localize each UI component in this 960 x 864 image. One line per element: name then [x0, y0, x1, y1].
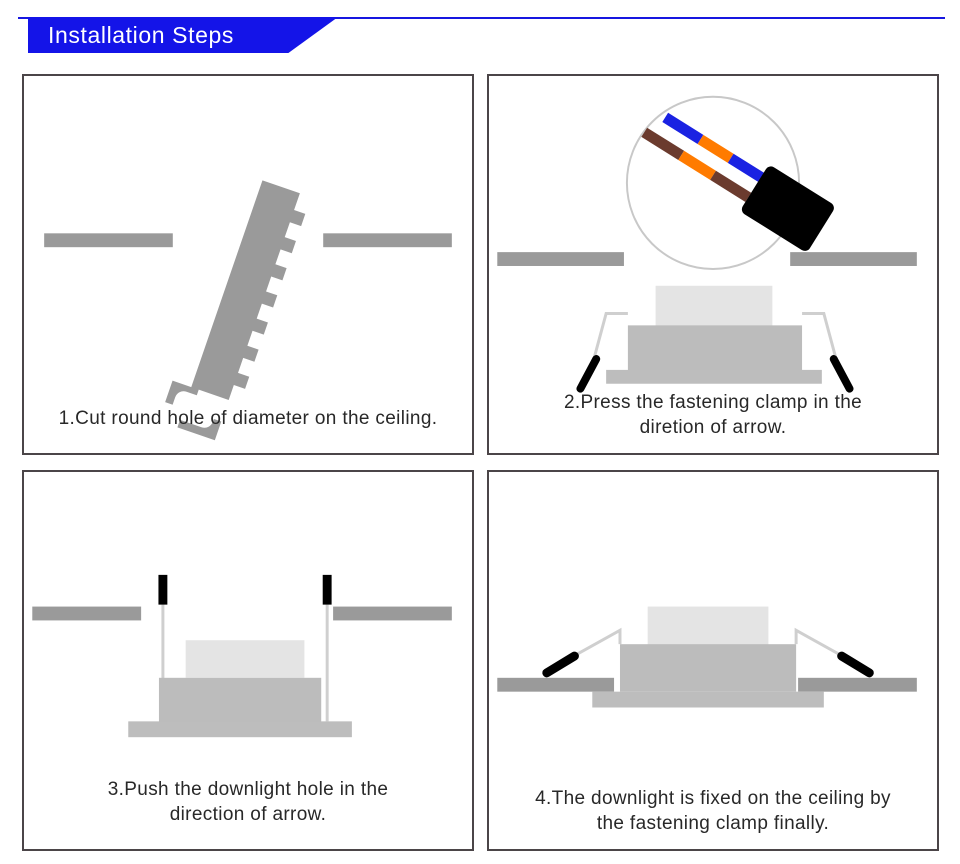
- ceiling-bar-right: [323, 233, 452, 247]
- ceiling-bar-right: [333, 607, 452, 621]
- step-panel-3: 3.Push the downlight hole in the directi…: [22, 470, 474, 851]
- fixture-flange: [128, 721, 352, 737]
- fixture-flange: [606, 370, 822, 384]
- fixture-body: [159, 678, 321, 724]
- driver-box: [186, 640, 305, 678]
- fixture-flange: [592, 692, 824, 708]
- driver-box: [648, 607, 769, 647]
- step-panel-4: 4.The downlight is fixed on the ceiling …: [487, 470, 939, 851]
- ceiling-bar-right: [790, 252, 917, 266]
- page-header: Installation Steps: [0, 0, 960, 62]
- downlight-fixture: [592, 607, 824, 708]
- ceiling-bar-left: [497, 678, 614, 692]
- step-1-illustration: [24, 76, 472, 453]
- step-panel-2: 2.Press the fastening clamp in the diret…: [487, 74, 939, 455]
- driver-box: [656, 286, 773, 330]
- fixture-body: [620, 644, 796, 691]
- step-3-caption: 3.Push the downlight hole in the directi…: [24, 777, 472, 827]
- installation-steps-page: Installation Steps 1.Cut round hole of d…: [0, 0, 960, 864]
- ceiling-bar-left: [497, 252, 624, 266]
- step-1-caption: 1.Cut round hole of diameter on the ceil…: [24, 406, 472, 431]
- clamp-arrow-right: [796, 630, 869, 673]
- ceiling-bar-right: [798, 678, 917, 692]
- header-banner: Installation Steps: [28, 17, 338, 53]
- downlight-fixture: [606, 286, 822, 384]
- page-title: Installation Steps: [28, 24, 234, 47]
- ceiling-bar-left: [32, 607, 141, 621]
- ceiling-bar-left: [44, 233, 173, 247]
- clamp-arrow-left: [547, 630, 620, 673]
- step-4-caption: 4.The downlight is fixed on the ceiling …: [489, 786, 937, 836]
- step-2-caption: 2.Press the fastening clamp in the diret…: [489, 390, 937, 440]
- step-panel-1: 1.Cut round hole of diameter on the ceil…: [22, 74, 474, 455]
- handsaw-icon: [159, 174, 311, 444]
